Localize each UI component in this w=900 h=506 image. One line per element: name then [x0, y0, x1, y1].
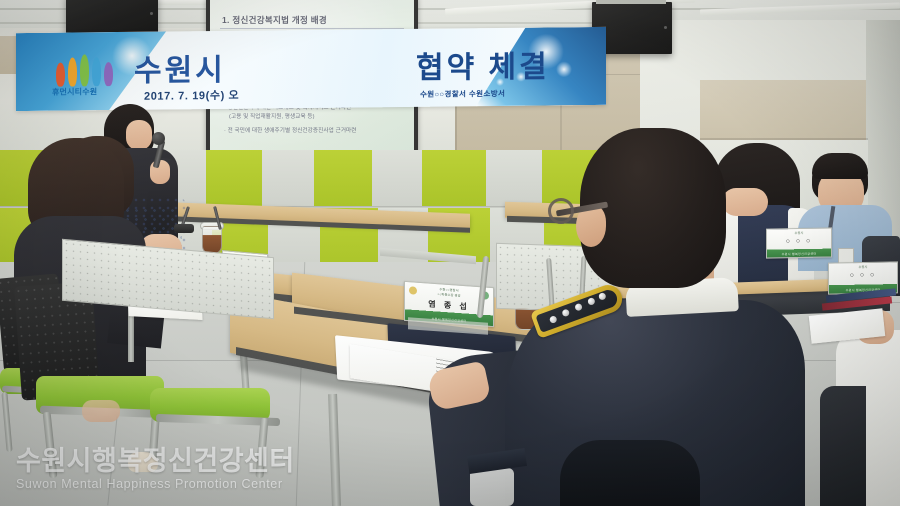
officer-chair-back	[560, 440, 700, 506]
slide-bullet-4: · 전 국민에 대한 생애주기별 정신건강증진사업 근거마련	[224, 127, 404, 136]
photo-scene: 1. 정신건강복지법 개정 배경 정신건강복지법 개정 배경 · 정신건강증진 …	[0, 0, 900, 506]
shoe	[128, 452, 158, 472]
nameplate-name: ○ ○ ○	[767, 237, 831, 245]
attendee-leg	[82, 400, 120, 422]
glasses-lens-icon	[548, 198, 574, 224]
banner-organizations: 수원○○경찰서 수원소방서	[420, 88, 505, 100]
wall-panel	[422, 150, 486, 206]
banner-title-left: 수원시	[134, 45, 226, 90]
slide-bullet-3-sub: (고용 및 직업재활지원, 평생교육 등)	[224, 113, 404, 122]
desk-microphone-base	[174, 224, 194, 233]
speaker-bracket	[596, 0, 666, 4]
banner-sparkle	[556, 61, 572, 77]
nameplate-footer: 수원시 행복정신건강센터	[767, 251, 831, 256]
nameplate-emblem-left	[409, 286, 417, 295]
wall-panel	[372, 150, 422, 206]
wall-seam	[700, 138, 868, 140]
attendee-right-woman-neck	[722, 188, 768, 216]
slide-bullet-4-main: · 전 국민에 대한 생애주기별 정신건강증진사업 근거마련	[224, 128, 357, 134]
banner-logo-label: 휴먼시티수원	[52, 86, 97, 97]
wall-panel	[262, 150, 314, 206]
wall-panel	[486, 150, 542, 206]
nameplate-right-1: 수원시 ○ ○ ○ 수원시 행복정신건강센터	[766, 227, 832, 258]
event-banner: 휴먼시티수원 수원시 협약 체결 2017. 7. 19(수) 오 수원○○경찰…	[16, 27, 606, 111]
nameplate-org: 수원시	[767, 230, 831, 235]
nameplate-name: ○ ○ ○	[829, 271, 897, 279]
ceiling-speaker-left-icon	[66, 0, 158, 34]
officer-shirt-cuff	[470, 468, 514, 506]
wall-panel	[314, 150, 372, 206]
attendee-right-man-hair-top	[812, 153, 868, 179]
nameplate-org: 수원시	[829, 264, 897, 269]
presenter-face	[126, 120, 152, 150]
slide-title: 1. 정신건강복지법 개정 배경	[222, 14, 327, 26]
chair-back	[820, 386, 866, 506]
banner-date: 2017. 7. 19(수) 오	[144, 87, 239, 104]
banner-title-right: 협약 체결	[416, 41, 550, 86]
microphone-head-icon	[152, 132, 165, 145]
iced-coffee-cup	[202, 226, 222, 254]
wall-panel	[206, 150, 262, 206]
